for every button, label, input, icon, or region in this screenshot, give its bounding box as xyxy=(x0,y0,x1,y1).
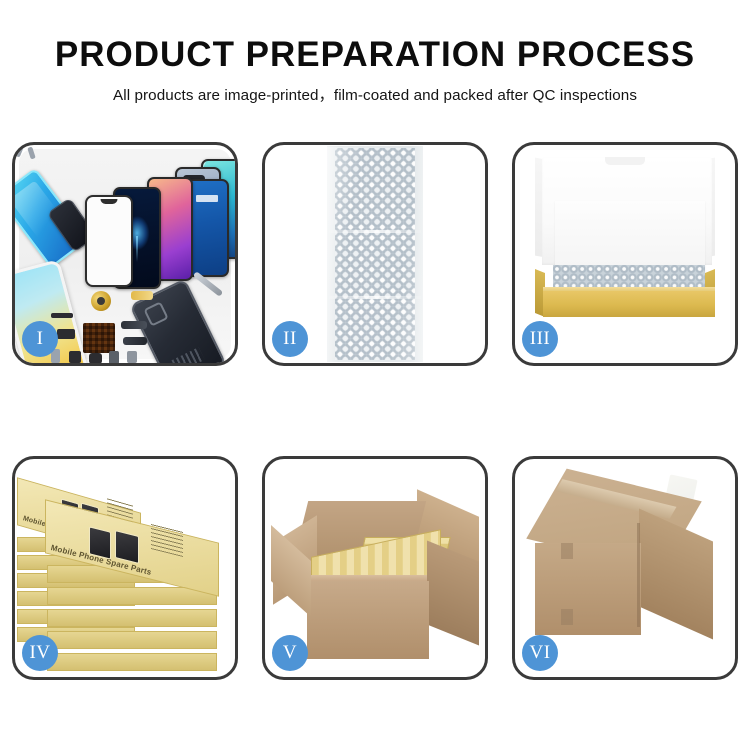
mailer-lid-tab xyxy=(605,157,645,165)
carton-front-face xyxy=(307,581,429,659)
glass-protector-graphic xyxy=(85,195,133,287)
step-badge-4: IV xyxy=(22,635,58,671)
stacked-box-r5 xyxy=(47,653,217,671)
page-title: PRODUCT PREPARATION PROCESS xyxy=(0,34,750,76)
spare-part-camera xyxy=(57,329,75,339)
step-badge-2: II xyxy=(272,321,308,357)
carton-seam-lower xyxy=(561,609,573,625)
box-chip-front-2 xyxy=(115,530,139,564)
sealed-carton-vertical-edge xyxy=(637,523,640,627)
step-panel-3: III xyxy=(512,142,738,366)
header: PRODUCT PREPARATION PROCESS All products… xyxy=(0,34,750,105)
spare-part-misc-2 xyxy=(69,351,81,363)
step-badge-3: III xyxy=(522,321,558,357)
bubble-wrap-gloss xyxy=(326,147,424,363)
foam-insert xyxy=(555,201,705,273)
spare-part-flex-cable-b xyxy=(123,337,147,345)
step-badge-5: V xyxy=(272,635,308,671)
stacked-box-r4 xyxy=(47,631,217,649)
stacked-box-r3 xyxy=(47,609,217,627)
page-subtitle: All products are image-printed，film-coat… xyxy=(0,83,750,105)
spare-part-bar xyxy=(51,313,73,318)
spare-part-misc-4 xyxy=(109,351,119,363)
step-badge-6: VI xyxy=(522,635,558,671)
spare-part-flex-cable-a xyxy=(121,321,147,329)
spare-part-connector-grid xyxy=(83,323,115,353)
spare-part-misc-5 xyxy=(127,351,137,363)
spare-part-coil xyxy=(91,291,111,311)
process-steps-grid: I II xyxy=(12,142,738,680)
bubble-wrap-sheet xyxy=(327,146,423,362)
spare-part-gold-flex xyxy=(131,291,153,300)
step-panel-2: II xyxy=(262,142,488,366)
sealed-carton-front-face xyxy=(535,543,641,635)
box-chip-front-1 xyxy=(89,526,111,559)
product-preparation-infographic: PRODUCT PREPARATION PROCESS All products… xyxy=(0,0,750,750)
step-panel-1: I xyxy=(12,142,238,366)
step-badge-1: I xyxy=(22,321,58,357)
carton-seam-upper xyxy=(561,543,573,559)
sealed-carton-right-face xyxy=(639,509,713,640)
spare-part-misc-3 xyxy=(89,353,102,363)
step-panel-4: Mobile Phone Spare Parts Mobile Phone Sp… xyxy=(12,456,238,680)
mailer-front-panel xyxy=(543,291,715,317)
step-panel-6: VI xyxy=(512,456,738,680)
step-panel-5: V xyxy=(262,456,488,680)
